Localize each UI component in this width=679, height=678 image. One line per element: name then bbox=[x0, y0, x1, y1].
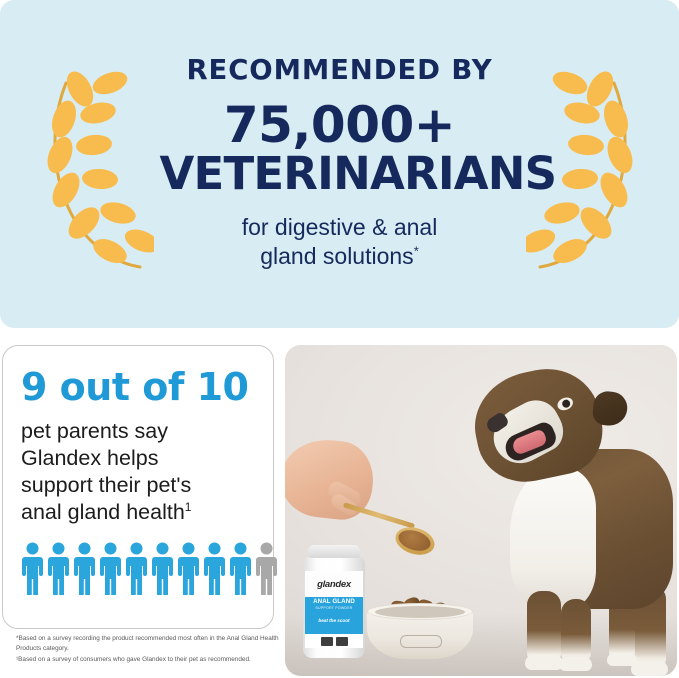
dog-front-right-leg bbox=[561, 599, 591, 663]
dog-front-left-leg bbox=[527, 591, 561, 663]
dog-chest bbox=[510, 468, 596, 610]
person-icon bbox=[177, 542, 200, 595]
person-icon bbox=[151, 542, 174, 595]
person-icon bbox=[229, 542, 252, 595]
award-banner-content: RECOMMENDED BY 75,000+ VETERINARIANS for… bbox=[0, 0, 679, 328]
award-text-block: RECOMMENDED BY 75,000+ VETERINARIANS for… bbox=[160, 57, 520, 270]
bottle-cap bbox=[308, 545, 360, 558]
award-subtext-asterisk: * bbox=[414, 243, 419, 258]
footnote-line-2: ¹Based on a survey of consumers who gave… bbox=[16, 655, 281, 665]
bottle-product-line-1: ANAL GLAND bbox=[305, 599, 363, 606]
bone-icon bbox=[400, 635, 442, 648]
award-banner: RECOMMENDED BY 75,000+ VETERINARIANS for… bbox=[0, 0, 679, 328]
award-subtext: for digestive & anal gland solutions* bbox=[160, 213, 520, 271]
certification-seal-icon bbox=[321, 637, 333, 646]
stat-body: pet parents say Glandex helps support th… bbox=[21, 418, 255, 526]
glandex-bottle: glandex ANAL GLAND SUPPORT POWDER beat t… bbox=[303, 545, 365, 658]
bottle-label-band: ANAL GLAND SUPPORT POWDER beat the scoot bbox=[305, 597, 363, 634]
person-icon bbox=[99, 542, 122, 595]
bowl-inner bbox=[375, 606, 465, 618]
dog-ear bbox=[591, 390, 628, 427]
dog-food-bowl bbox=[367, 597, 473, 659]
bottle-label-top: glandex bbox=[305, 571, 363, 597]
stat-card: 9 out of 10 pet parents say Glandex help… bbox=[2, 345, 274, 629]
stat-headline: 9 out of 10 bbox=[21, 368, 255, 406]
award-subtext-line1: for digestive & anal bbox=[242, 214, 438, 240]
person-icon bbox=[125, 542, 148, 595]
certification-seal-icon bbox=[336, 637, 348, 646]
person-icon bbox=[47, 542, 70, 595]
laurel-branch-icon bbox=[526, 57, 636, 272]
footnote-line-1: *Based on a survey recording the product… bbox=[16, 634, 281, 655]
bottle-product-line-2: SUPPORT POWDER bbox=[305, 606, 363, 611]
person-icon bbox=[203, 542, 226, 595]
stat-body-line3: support their pet's bbox=[21, 473, 191, 497]
bottle-tagline: beat the scoot bbox=[305, 618, 363, 623]
person-icon bbox=[255, 542, 278, 595]
dog-paw bbox=[559, 657, 592, 671]
award-number: 75,000+ bbox=[160, 99, 520, 151]
award-kicker: RECOMMENDED BY bbox=[160, 57, 520, 85]
person-icon bbox=[73, 542, 96, 595]
dog-paw bbox=[607, 653, 637, 666]
bottle-label-seals bbox=[305, 634, 363, 648]
person-icon bbox=[21, 542, 44, 595]
product-photo: glandex ANAL GLAND SUPPORT POWDER beat t… bbox=[285, 345, 677, 676]
stat-body-line2: Glandex helps bbox=[21, 446, 158, 470]
award-subtext-line2: gland solutions bbox=[260, 243, 413, 269]
stat-body-line4: anal gland health bbox=[21, 500, 185, 524]
stat-body-footnote-marker: 1 bbox=[185, 500, 192, 514]
dog-paw bbox=[631, 661, 668, 676]
stat-body-line1: pet parents say bbox=[21, 419, 168, 443]
people-pictogram bbox=[21, 542, 255, 595]
bottle-brand: glandex bbox=[305, 579, 363, 590]
award-word: VETERINARIANS bbox=[160, 151, 520, 197]
laurel-branch-icon bbox=[44, 57, 154, 272]
footnotes: *Based on a survey recording the product… bbox=[16, 634, 281, 665]
dog-paw bbox=[525, 655, 563, 670]
